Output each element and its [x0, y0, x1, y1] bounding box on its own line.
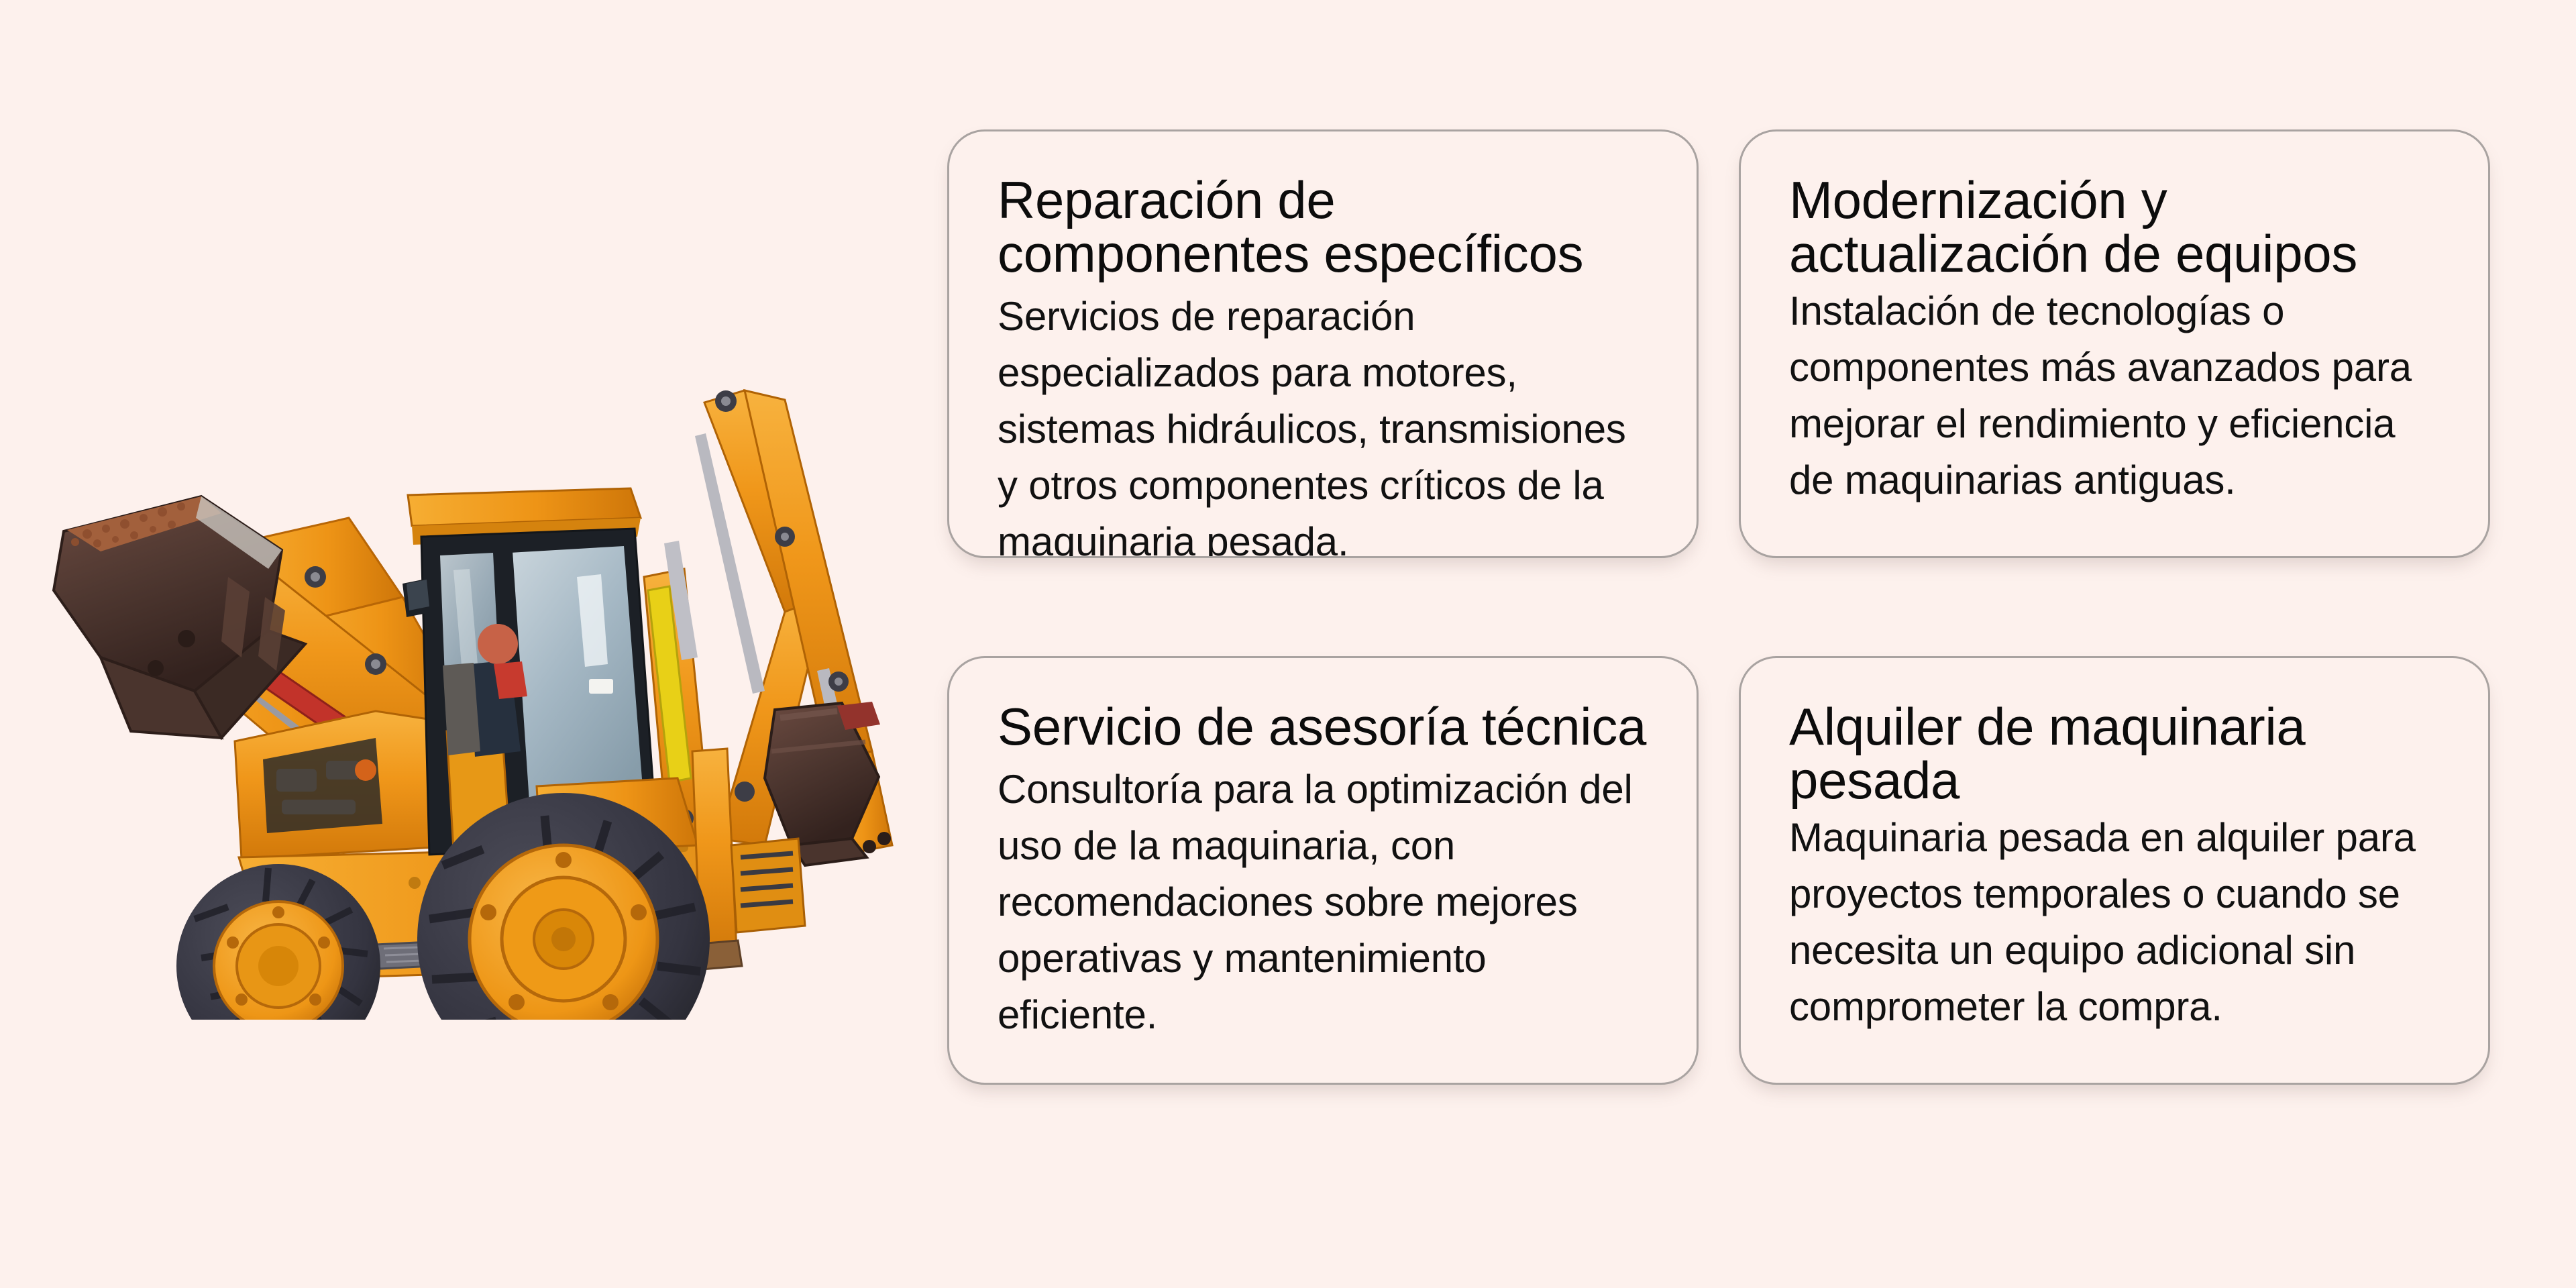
card-description: Instalación de tecnologías o componentes… — [1789, 283, 2441, 508]
service-card-alquiler-maquinaria[interactable]: Alquiler de maquinaria pesada Maquinaria… — [1739, 656, 2490, 1085]
card-description: Servicios de reparación especializados p… — [998, 288, 1650, 558]
service-card-asesoria-tecnica[interactable]: Servicio de asesoría técnica Consultoría… — [947, 656, 1699, 1085]
rear-hydraulics — [731, 839, 805, 932]
services-card-grid: Reparación de componentes específicos Se… — [947, 129, 2490, 1085]
backhoe-loader-icon — [0, 376, 939, 1020]
backhoe-loader-illustration — [0, 376, 939, 1020]
service-card-modernizacion-equipos[interactable]: Modernización y actualización de equipos… — [1739, 129, 2490, 558]
card-description: Consultoría para la optimización del uso… — [998, 761, 1650, 1043]
card-title: Modernización y actualización de equipos — [1789, 173, 2441, 280]
card-title: Servicio de asesoría técnica — [998, 700, 1650, 753]
card-title: Alquiler de maquinaria pesada — [1789, 700, 2441, 807]
card-description: Maquinaria pesada en alquiler para proye… — [1789, 810, 2441, 1035]
service-card-reparacion-componentes[interactable]: Reparación de componentes específicos Se… — [947, 129, 1699, 558]
page-root: Reparación de componentes específicos Se… — [0, 0, 2576, 1288]
card-title: Reparación de componentes específicos — [998, 173, 1650, 280]
